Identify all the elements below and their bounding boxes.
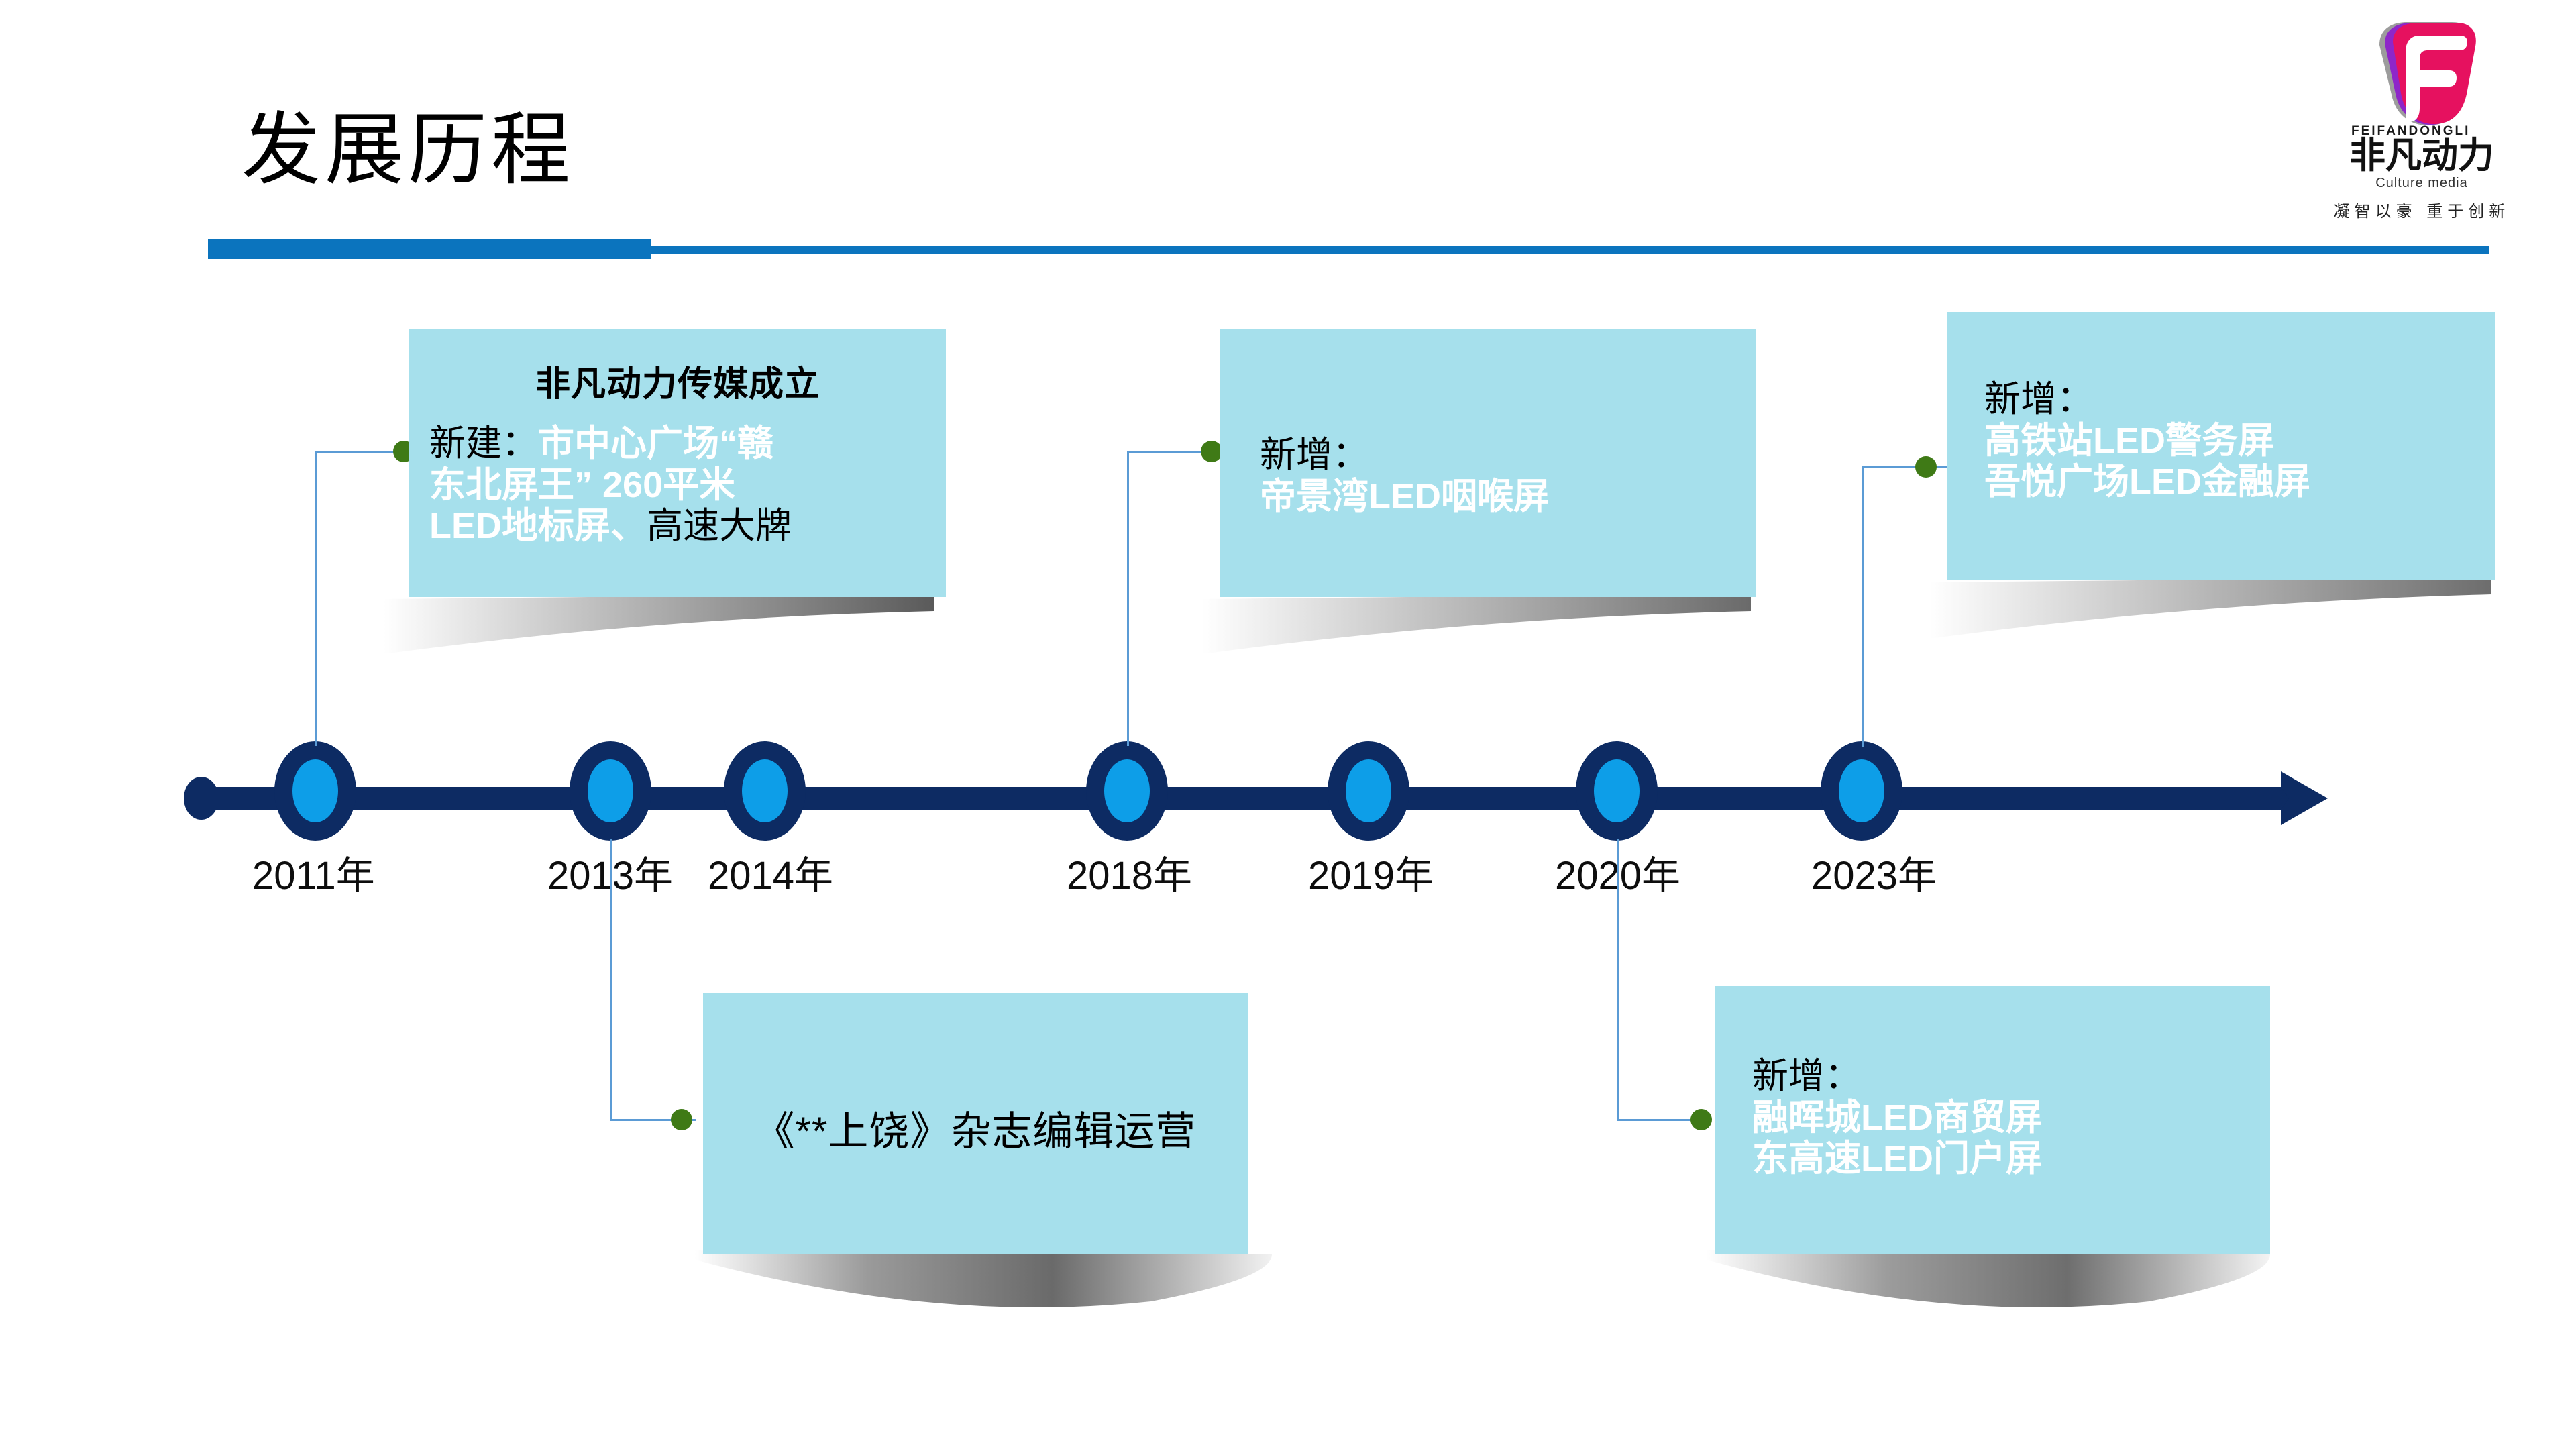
- feifandongli-f-logo-icon: [2353, 17, 2487, 131]
- card-shadow-2018: [1202, 594, 1792, 667]
- card-shadow-2013: [695, 1249, 1312, 1330]
- company-logo: FEIFANDONGLI 非凡动力 Culture media 凝智以豪 重于创…: [2311, 17, 2532, 211]
- card-2023-body: 新增： 高铁站LED警务屏 吾悦广场LED金融屏: [1947, 312, 2495, 503]
- connector-dot-2020: [1690, 1109, 1712, 1130]
- title-underline-line: [644, 246, 2489, 254]
- card-2018-line-2: 帝景湾LED咽喉屏: [1260, 476, 1736, 518]
- timeline-node-2023[interactable]: [1821, 741, 1902, 841]
- card-2011-line-1: 新建：市中心广场“赣: [429, 423, 926, 465]
- card-2023-lead: 新增：: [1984, 379, 2093, 419]
- year-label-2018: 2018年: [1067, 844, 1192, 900]
- card-2020-highlight-1: 融晖城LED商贸屏: [1752, 1097, 2042, 1138]
- timeline-card-2018[interactable]: 新增： 帝景湾LED咽喉屏: [1220, 329, 1756, 597]
- card-2011-lead: 新建：: [429, 423, 538, 464]
- timeline-card-2023[interactable]: 新增： 高铁站LED警务屏 吾悦广场LED金融屏: [1947, 312, 2495, 580]
- timeline-node-2013[interactable]: [570, 741, 651, 841]
- connector-dot-2023: [1915, 456, 1937, 478]
- year-label-2014: 2014年: [708, 844, 833, 900]
- card-shadow-2023: [1929, 577, 2533, 651]
- card-2020-lead: 新增：: [1752, 1056, 1861, 1096]
- card-shadow-2011: [384, 594, 974, 667]
- card-2018-highlight-1: 帝景湾LED咽喉屏: [1260, 476, 1550, 517]
- card-2023-line-3: 吾悦广场LED金融屏: [1984, 462, 2479, 503]
- page-title: 发展历程: [241, 107, 574, 195]
- logo-chinese-text: 非凡动力: [2311, 138, 2532, 174]
- card-2011-highlight-2: 东北屏王” 260平米: [429, 465, 735, 505]
- timeline-node-2011[interactable]: [274, 741, 356, 841]
- logo-subtitle: Culture media: [2311, 176, 2532, 191]
- card-2020-highlight-2: 东高速LED门户屏: [1752, 1138, 2042, 1179]
- connector-line-2018-horizontal: [1127, 451, 1213, 453]
- year-label-2023: 2023年: [1811, 844, 1937, 900]
- card-2011-highlight-1: 市中心广场“赣: [538, 423, 773, 464]
- connector-line-2020-horizontal: [1617, 1119, 1703, 1121]
- timeline-card-2020[interactable]: 新增： 融晖城LED商贸屏 东高速LED门户屏: [1715, 986, 2270, 1254]
- card-2020-line-1: 新增：: [1752, 1056, 2254, 1097]
- timeline-node-2018[interactable]: [1086, 741, 1168, 841]
- timeline-node-2014[interactable]: [724, 741, 806, 841]
- connector-dot-2013: [671, 1109, 692, 1130]
- card-2013-text: 《**上饶》杂志编辑运营: [703, 993, 1248, 1157]
- timeline-card-2011[interactable]: 非凡动力传媒成立 新建：市中心广场“赣 东北屏王” 260平米 LED地标屏、高…: [409, 329, 946, 597]
- connector-line-2023-vertical: [1862, 466, 1864, 747]
- timeline-node-2020[interactable]: [1576, 741, 1658, 841]
- logo-tagline: 凝智以豪 重于创新: [2311, 198, 2532, 221]
- card-2011-title: 非凡动力传媒成立: [409, 329, 946, 406]
- connector-line-2018-vertical: [1127, 451, 1129, 746]
- year-label-2019: 2019年: [1308, 844, 1434, 900]
- card-2020-line-3: 东高速LED门户屏: [1752, 1138, 2254, 1180]
- card-shadow-2020: [1707, 1249, 2310, 1330]
- card-2018-line-1: 新增：: [1260, 435, 1736, 476]
- title-underline-block: [208, 239, 651, 259]
- year-label-2011: 2011年: [252, 844, 375, 900]
- card-2023-line-2: 高铁站LED警务屏: [1984, 421, 2479, 462]
- card-2020-line-2: 融晖城LED商贸屏: [1752, 1097, 2254, 1139]
- card-2023-highlight-1: 高铁站LED警务屏: [1984, 421, 2274, 461]
- card-2011-dark-tail: 高速大牌: [647, 506, 792, 546]
- card-2011-line-3: LED地标屏、高速大牌: [429, 506, 926, 547]
- connector-line-2013-vertical: [610, 839, 612, 1120]
- connector-line-2011-horizontal: [315, 451, 404, 453]
- timeline-axis: [0, 758, 2576, 839]
- card-2020-body: 新增： 融晖城LED商贸屏 东高速LED门户屏: [1715, 986, 2270, 1180]
- connector-line-2020-vertical: [1617, 839, 1619, 1120]
- card-2023-highlight-2: 吾悦广场LED金融屏: [1984, 462, 2310, 502]
- timeline-card-2013[interactable]: 《**上饶》杂志编辑运营: [703, 993, 1248, 1254]
- card-2011-line-2: 东北屏王” 260平米: [429, 465, 926, 506]
- card-2011-body: 新建：市中心广场“赣 东北屏王” 260平米 LED地标屏、高速大牌: [409, 406, 946, 547]
- card-2018-lead: 新增：: [1260, 435, 1368, 475]
- card-2018-body: 新增： 帝景湾LED咽喉屏: [1220, 329, 1756, 517]
- card-2011-highlight-3: LED地标屏、: [429, 506, 647, 546]
- connector-line-2011-vertical: [315, 451, 317, 746]
- card-2023-line-1: 新增：: [1984, 379, 2479, 421]
- timeline-node-2019[interactable]: [1328, 741, 1409, 841]
